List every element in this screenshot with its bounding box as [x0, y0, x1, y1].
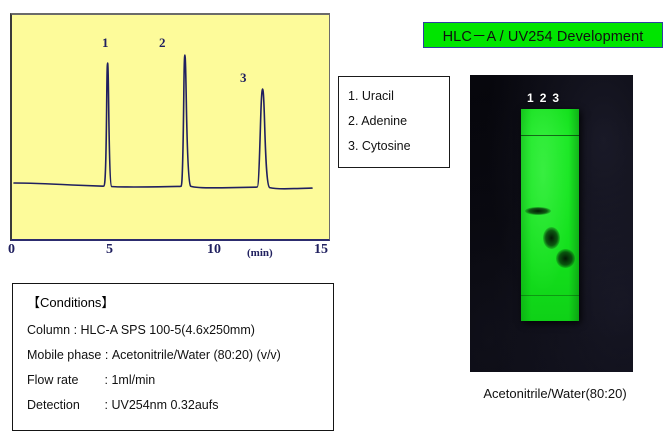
conditions-key: Detection: [27, 393, 101, 418]
axis-tick-5: 5: [106, 243, 113, 257]
tlc-plate-sheen: [521, 109, 579, 321]
conditions-row-detection: Detection : UV254nm 0.32aufs: [27, 393, 333, 418]
tlc-plate: [521, 109, 579, 321]
chromatogram-trace: [12, 15, 330, 241]
title-banner: HLC－A / UV254 Development: [423, 22, 663, 48]
conditions-value: 1ml/min: [111, 368, 155, 393]
tlc-lane-labels: 1 2 3: [527, 91, 583, 105]
chromatogram-panel: 1 2 3: [10, 13, 330, 241]
peak-label-1: 1: [102, 36, 109, 49]
conditions-heading: 【Conditions】: [27, 293, 333, 313]
tlc-spot-1: [525, 207, 551, 215]
conditions-row-column: Column : HLC-A SPS 100-5(4.6x250mm): [27, 318, 333, 343]
conditions-separator: :: [104, 368, 107, 393]
axis-tick-15: 15: [314, 243, 328, 257]
solvent-front-line: [521, 135, 579, 136]
tlc-caption: Acetonitrile/Water(80:20): [455, 386, 655, 401]
tlc-lane-label-2: 2: [540, 91, 547, 105]
legend-item: 2. Adenine: [348, 109, 449, 134]
peak-label-2: 2: [159, 36, 166, 49]
tlc-plate-photo: 1 2 3: [470, 75, 633, 372]
legend-item: 1. Uracil: [348, 84, 449, 109]
peak-label-3: 3: [240, 71, 247, 84]
axis-tick-0: 0: [8, 243, 15, 257]
conditions-value: HLC-A SPS 100-5(4.6x250mm): [81, 318, 255, 343]
conditions-key: Mobile phase: [27, 343, 101, 368]
legend-item: 3. Cytosine: [348, 134, 449, 159]
conditions-value: Acetonitrile/Water (80:20) (v/v): [112, 343, 281, 368]
conditions-row-mobile-phase: Mobile phase : Acetonitrile/Water (80:20…: [27, 343, 333, 368]
tlc-lane-label-3: 3: [552, 91, 559, 105]
conditions-row-flow-rate: Flow rate : 1ml/min: [27, 368, 333, 393]
conditions-separator: :: [105, 343, 108, 368]
conditions-value: UV254nm 0.32aufs: [111, 393, 218, 418]
tlc-spot-3: [556, 249, 575, 268]
conditions-key: Flow rate: [27, 368, 101, 393]
conditions-key: Column: [27, 318, 70, 343]
tlc-spot-2: [543, 227, 560, 249]
conditions-box: 【Conditions】 Column : HLC-A SPS 100-5(4.…: [12, 283, 334, 431]
chromatogram-x-axis: 0 5 10 15 (min): [0, 243, 340, 269]
conditions-separator: :: [104, 393, 107, 418]
title-banner-text: HLC－A / UV254 Development: [443, 25, 644, 46]
tlc-lane-label-1: 1: [527, 91, 534, 105]
conditions-separator: :: [74, 318, 77, 343]
compound-legend-box: 1. Uracil 2. Adenine 3. Cytosine: [338, 76, 450, 168]
axis-tick-10: 10: [207, 243, 221, 257]
origin-line: [521, 295, 579, 296]
axis-unit-label: (min): [247, 248, 273, 259]
